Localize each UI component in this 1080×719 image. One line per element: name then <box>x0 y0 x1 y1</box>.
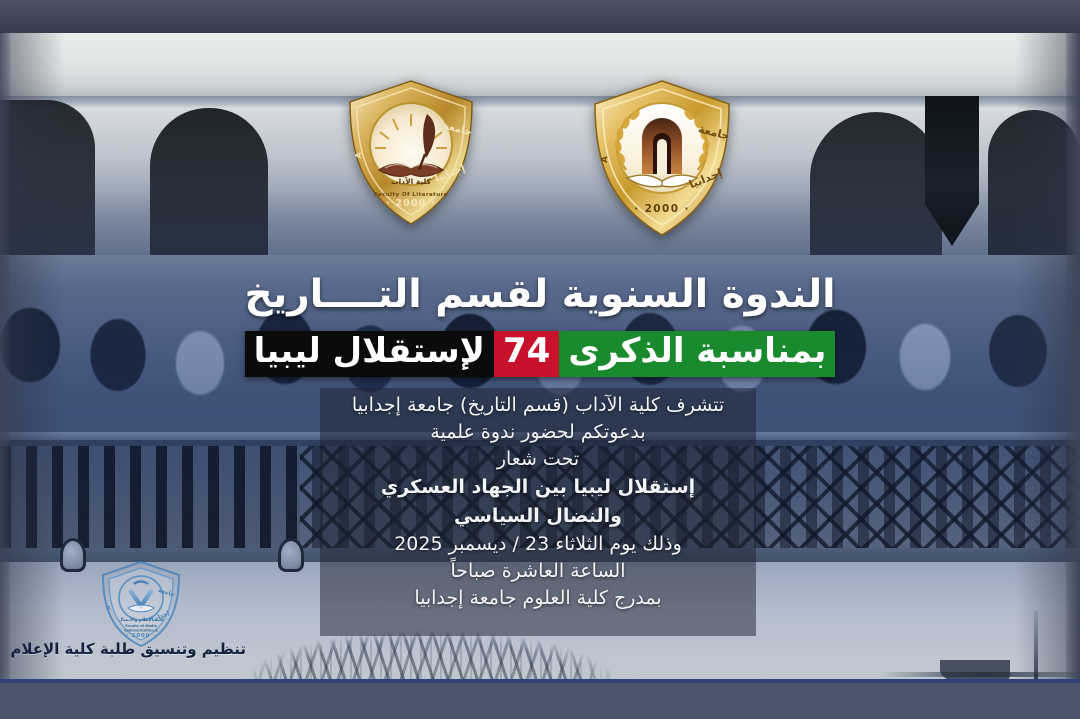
body-line-slogan: إستقلال ليبيا بين الجهاد العسكري <box>320 473 756 502</box>
title-flag-green-segment: بمناسبة الذكرى <box>559 331 835 377</box>
top-frame-band <box>0 0 1080 33</box>
svg-text:كلية الآداب: كلية الآداب <box>391 177 431 186</box>
poster-title-line1: الندوة السنوية لقسم التــــاريخ <box>0 272 1080 317</box>
body-line: تحت شعار <box>320 446 756 473</box>
svg-text:& Communication: & Communication <box>124 629 158 633</box>
bottom-frame-band <box>0 683 1080 719</box>
body-line: بدعوتكم لحضور ندوة علمية <box>320 419 756 446</box>
body-line-date: وذلك يوم الثلاثاء 23 / ديسمبر 2025 <box>320 531 756 558</box>
body-line-time: الساعة العاشرة صباحاً <box>320 558 756 585</box>
body-text-block: تتشرف كلية الآداب (قسم التاريخ) جامعة إج… <box>320 392 756 612</box>
event-poster: UNIVERSITY OF AJDABIYA جامعة إجدابيا · 2… <box>0 0 1080 719</box>
body-line-venue: بمدرج كلية العلوم جامعة إجدابيا <box>320 585 756 612</box>
svg-text:· 2000 ·: · 2000 · <box>386 198 436 209</box>
faculty-of-media-crest-logo: كلية الإعلام والاتصال Faculty of Media &… <box>98 560 184 648</box>
svg-text:Faculty of Media: Faculty of Media <box>125 624 157 628</box>
libya-flag-title-bar: بمناسبة الذكرى 74 لإستقلال ليبيا <box>245 331 836 377</box>
poster-title-flag-line: بمناسبة الذكرى 74 لإستقلال ليبيا <box>0 331 1080 377</box>
title-flag-black-segment: لإستقلال ليبيا <box>245 331 494 377</box>
body-line: تتشرف كلية الآداب (قسم التاريخ) جامعة إج… <box>320 392 756 419</box>
body-line-slogan: والنضال السياسي <box>320 502 756 531</box>
top-band-sheen <box>0 0 1080 33</box>
faculty-of-literature-crest-logo: كلية الآداب Faculty Of Literature UNIVER… <box>343 78 479 228</box>
svg-text:· 2000 ·: · 2000 · <box>634 203 690 215</box>
university-main-crest-logo: UNIVERSITY OF AJDABIYA جامعة إجدابيا · 2… <box>587 78 737 238</box>
title-flag-red-segment: 74 <box>494 331 559 377</box>
footer-organizer-caption: تنظيم وتنسيق طلبة كلية الإعلام <box>46 640 246 658</box>
svg-text:· 2000 ·: · 2000 · <box>126 633 156 639</box>
